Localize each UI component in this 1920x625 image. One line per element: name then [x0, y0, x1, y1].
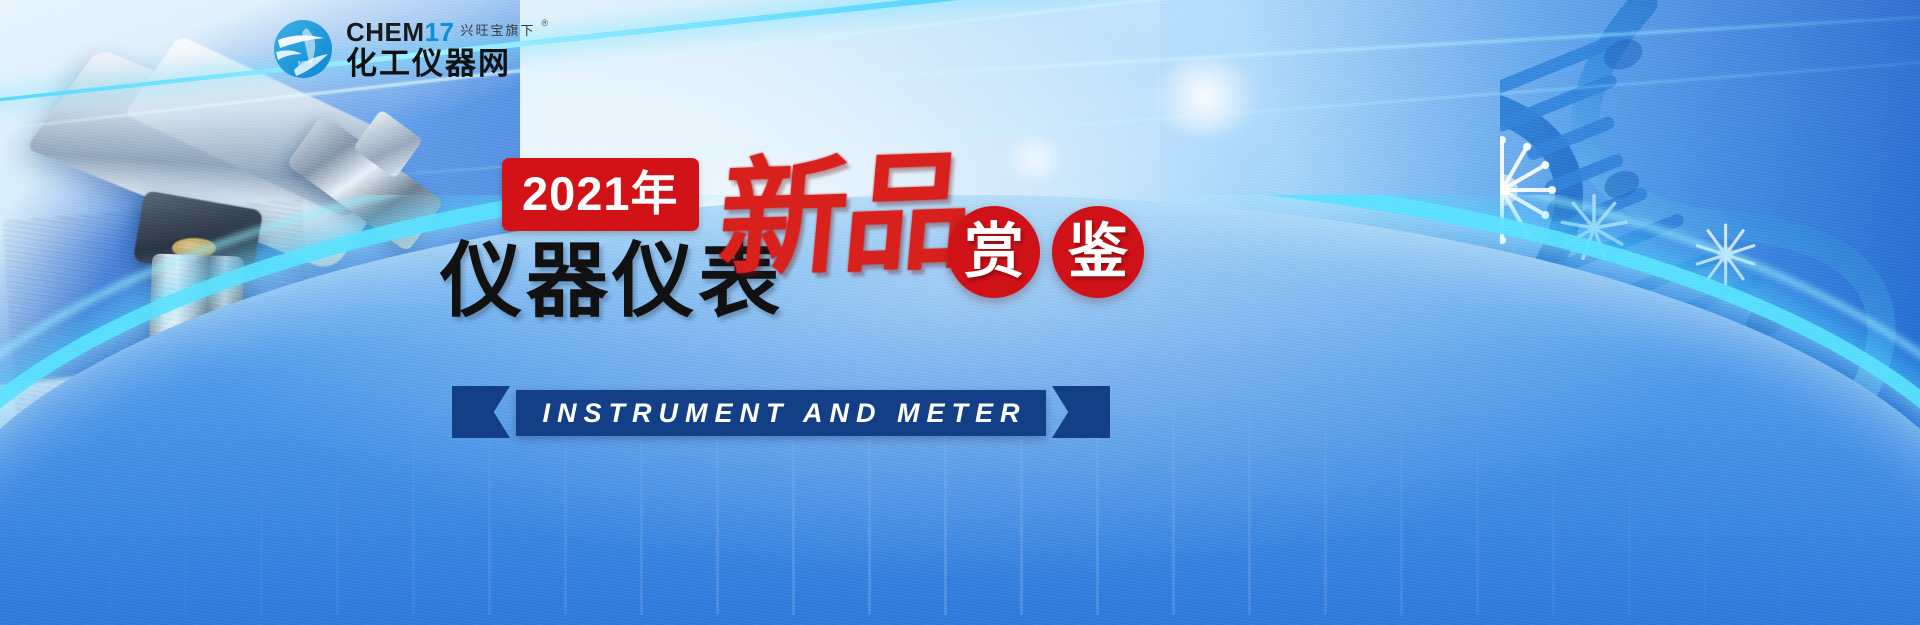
- subtitle-ribbon: INSTRUMENT AND METER: [452, 386, 1110, 438]
- logo-brand-cn: 化工仪器网: [346, 49, 548, 80]
- circle-badge-group: 赏 鉴: [948, 206, 1144, 298]
- registered-mark-icon: ®: [542, 19, 549, 28]
- logo-brand-number: 17: [425, 17, 455, 47]
- ribbon-text: INSTRUMENT AND METER: [516, 390, 1046, 436]
- circle-badge-shang: 赏: [948, 206, 1040, 298]
- ribbon-flag-left-icon: [452, 386, 510, 438]
- site-logo[interactable]: MT CHEM17 兴旺宝旗下 ® 化工仪器网: [272, 18, 548, 80]
- logo-brand-latin: CHEM17: [346, 19, 454, 45]
- chem17-globe-icon: MT: [272, 18, 334, 80]
- brush-title: 新品: [714, 148, 974, 285]
- svg-text:MT: MT: [298, 61, 309, 68]
- promo-banner: MT CHEM17 兴旺宝旗下 ® 化工仪器网 2021年 仪器仪表 新品 赏 …: [0, 0, 1920, 625]
- ribbon-flag-right-icon: [1052, 386, 1110, 438]
- year-badge: 2021年: [502, 158, 699, 231]
- logo-tagline: 兴旺宝旗下: [460, 25, 535, 38]
- circle-badge-jian: 鉴: [1052, 206, 1144, 298]
